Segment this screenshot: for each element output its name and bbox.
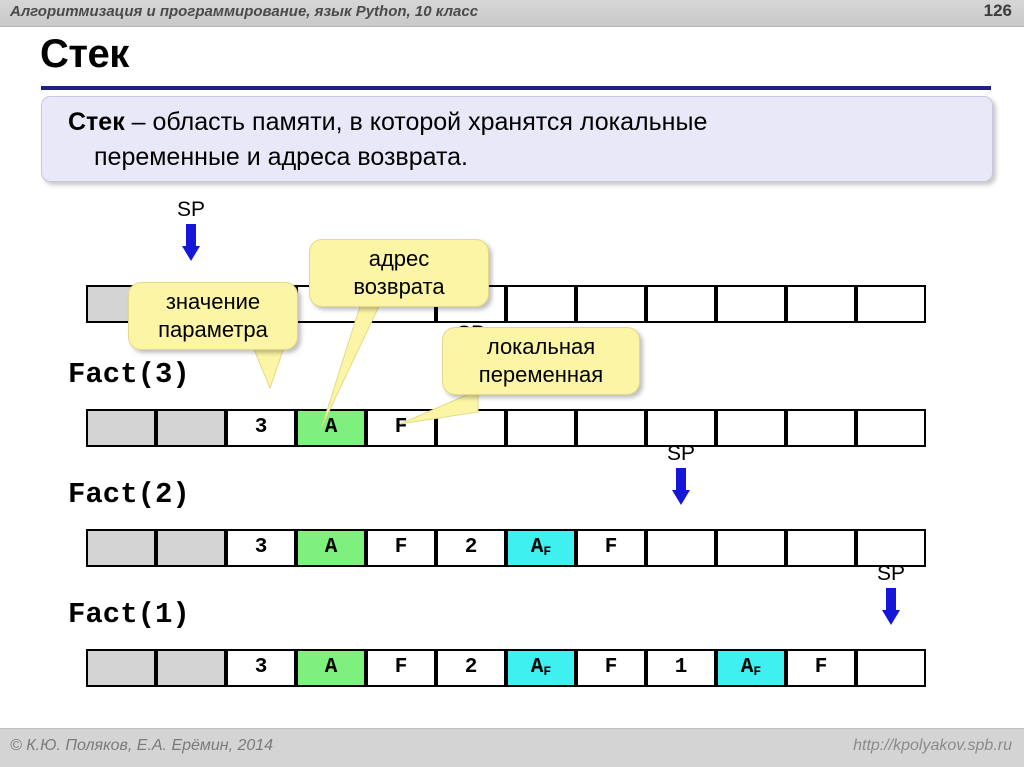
stack-cell-subscript: F [753, 664, 761, 679]
stack-cell [716, 529, 786, 567]
page-title: Стек [40, 32, 129, 77]
footer-bar: © К.Ю. Поляков, Е.А. Ерёмин, 2014 http:/… [0, 728, 1024, 767]
callout-local-variable-line2: переменная [453, 361, 629, 389]
callout-return-address-line1: адрес [320, 245, 478, 273]
stack-row: 3AF2AFF [86, 529, 926, 567]
stack-row: 3AF [86, 409, 926, 447]
callout-local-variable-line1: локальная [453, 333, 629, 361]
stack-cell: A [296, 649, 366, 687]
callout-param-value: значение параметра [128, 282, 298, 350]
definition-text: Стек – область памяти, в которой хранятс… [68, 105, 968, 175]
stack-cell-subscript: F [543, 544, 551, 559]
definition-line1: – область памяти, в которой хранятся лок… [125, 108, 708, 136]
stack-cell: F [366, 529, 436, 567]
callout-param-value-line1: значение [139, 288, 287, 316]
stack-cell [716, 409, 786, 447]
stack-cell [786, 409, 856, 447]
stack-cell [716, 285, 786, 323]
stack-cell: F [576, 649, 646, 687]
stack-cell [506, 409, 576, 447]
fact-label-row-fact3: Fact(3) [68, 358, 190, 391]
fact-label-row-fact2: Fact(2) [68, 478, 190, 511]
stack-cell: 3 [226, 409, 296, 447]
sp-label: SP [869, 562, 913, 586]
stack-cell [86, 409, 156, 447]
stack-cell [506, 285, 576, 323]
stack-row: 3AF2AFF1AFF [86, 649, 926, 687]
stack-cell: AF [506, 649, 576, 687]
stack-cell [646, 529, 716, 567]
sp-label: SP [169, 198, 213, 222]
definition-term: Стек [68, 108, 125, 136]
definition-box: Стек – область памяти, в которой хранятс… [41, 96, 993, 182]
stack-cell [856, 285, 926, 323]
footer-copyright: © К.Ю. Поляков, Е.А. Ерёмин, 2014 [10, 737, 273, 755]
stack-cell [856, 649, 926, 687]
stack-cell-subscript: F [543, 664, 551, 679]
stack-cell [86, 529, 156, 567]
definition-line2: переменные и адреса возврата. [68, 140, 968, 175]
stack-cell: A [296, 529, 366, 567]
callout-return-address-line2: возврата [320, 273, 478, 301]
stack-cell [576, 285, 646, 323]
stack-cell: AF [716, 649, 786, 687]
stack-cell [156, 649, 226, 687]
title-divider [41, 86, 991, 90]
callout-param-value-line2: параметра [139, 316, 287, 344]
footer-url[interactable]: http://kpolyakov.spb.ru [853, 737, 1012, 755]
stack-cell: F [366, 649, 436, 687]
stack-cell [646, 285, 716, 323]
stack-cell: F [786, 649, 856, 687]
callout-tail-local-variable [400, 390, 480, 426]
page-number: 126 [984, 1, 1012, 21]
header-bar: Алгоритмизация и программирование, язык … [0, 0, 1024, 27]
stack-cell [86, 649, 156, 687]
sp-label: SP [659, 442, 703, 466]
stack-cell [156, 409, 226, 447]
stack-cell: 2 [436, 649, 506, 687]
stack-cell: F [576, 529, 646, 567]
stack-cell [156, 529, 226, 567]
callout-local-variable: локальная переменная [442, 327, 640, 395]
stack-cell: AF [506, 529, 576, 567]
stack-cell: 3 [226, 649, 296, 687]
stack-cell: 1 [646, 649, 716, 687]
course-title: Алгоритмизация и программирование, язык … [10, 3, 478, 20]
stack-cell [576, 409, 646, 447]
stack-cell [856, 409, 926, 447]
fact-label-row-fact1: Fact(1) [68, 598, 190, 631]
stack-cell [786, 529, 856, 567]
stack-cell: 3 [226, 529, 296, 567]
stack-cell [786, 285, 856, 323]
stack-cell: 2 [436, 529, 506, 567]
callout-tail-return-address [316, 300, 386, 428]
callout-return-address: адрес возврата [309, 239, 489, 307]
